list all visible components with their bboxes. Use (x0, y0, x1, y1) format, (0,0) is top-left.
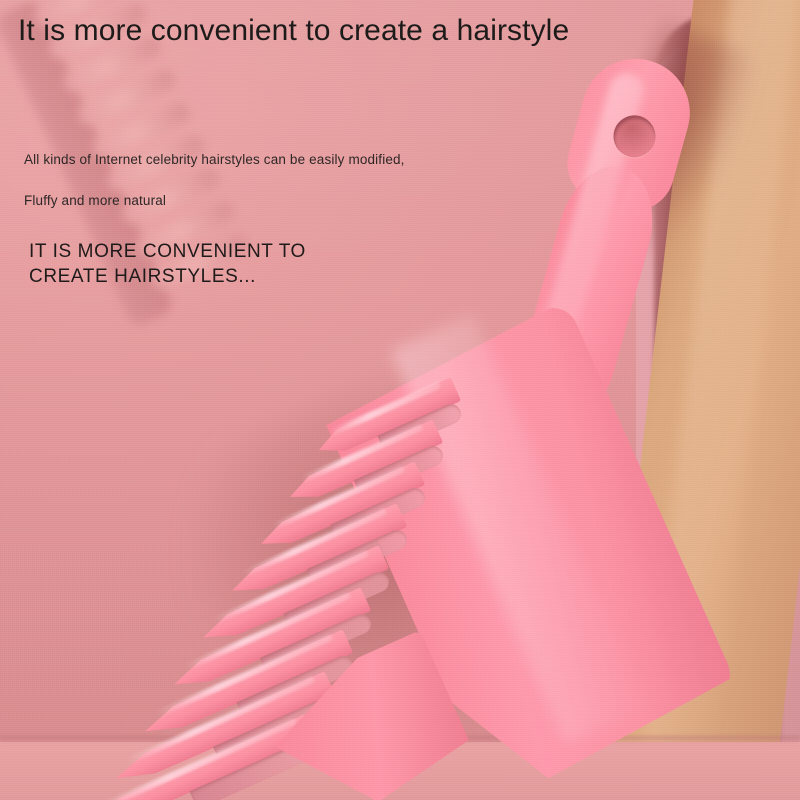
wide-tooth-comb (206, 18, 676, 788)
product-banner: It is more convenient to create a hairst… (0, 0, 800, 800)
subtitle-line-2: Fluffy and more natural (24, 192, 166, 210)
comb-teeth-group (206, 18, 676, 788)
subtitle-line-1: All kinds of Internet celebrity hairstyl… (24, 151, 405, 169)
caption-uppercase-block: IT IS MORE CONVENIENT TO CREATE HAIRSTYL… (29, 239, 306, 289)
page-title: It is more convenient to create a hairst… (18, 14, 569, 48)
